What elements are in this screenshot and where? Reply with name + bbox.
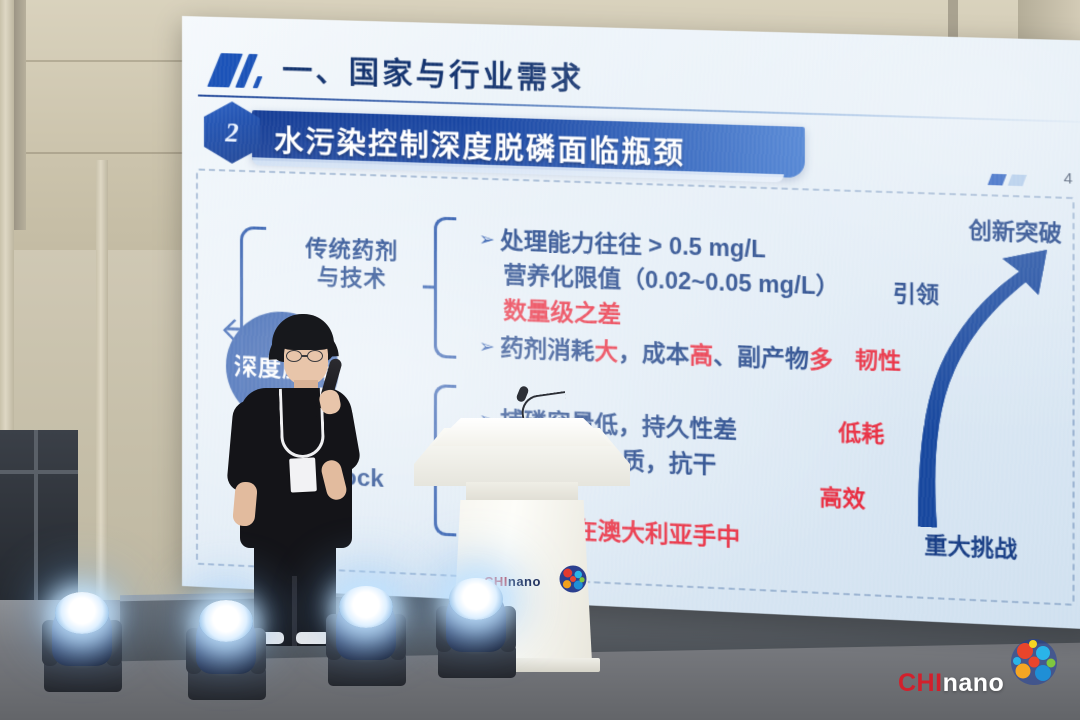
watermark-nano: nano <box>943 669 1005 697</box>
light-lens-icon <box>339 586 393 628</box>
bullet-text-segment: 高 <box>689 341 713 368</box>
light-lens-icon <box>55 592 109 634</box>
branch-label-traditional: 传统药剂 与技术 <box>276 233 428 295</box>
light-lens-icon <box>449 578 503 620</box>
chinano-watermark: CHInano <box>898 634 1066 706</box>
page-marker-icon <box>990 174 1032 188</box>
eyeglasses-icon <box>286 350 328 362</box>
bullet-text-segment: 数量级之差 <box>503 297 621 328</box>
section-number-text: 2 <box>225 117 239 148</box>
bullet-line-3: 数量级之差 <box>503 291 621 330</box>
nano-sphere-icon <box>558 564 588 594</box>
stage-light <box>180 594 272 702</box>
wall-edge <box>14 0 26 230</box>
growth-arrow-group: 创新突破 重大挑战 引领韧性低耗高效 <box>836 216 1063 564</box>
slash-decor-icon <box>214 53 274 89</box>
slide-section-title: 一、国家与行业需求 <box>282 45 584 98</box>
bullet-text-segment: 大 <box>594 338 618 365</box>
bullet-text-segment: 药剂消耗 <box>500 334 594 364</box>
upward-arrow-icon <box>836 216 1063 564</box>
stage-light <box>36 586 128 694</box>
light-lens-icon <box>199 600 253 642</box>
branch-brace-traditional <box>434 217 456 359</box>
bullet-text-segment: 、副产物 <box>713 342 809 372</box>
name-badge <box>289 457 317 492</box>
bullet-marker-icon: ➢ <box>479 336 495 358</box>
page-number: 4 <box>1064 170 1073 188</box>
bullet-text-segment: ，成本 <box>618 339 689 368</box>
wall-pillar <box>96 160 108 600</box>
stage-light <box>430 572 522 680</box>
stage-light <box>320 580 412 688</box>
bullet-text-segment: 处理能力往往 <box>500 227 648 259</box>
bullet-marker-icon: ➢ <box>479 229 495 251</box>
bullet-text-segment: 多 <box>809 346 833 374</box>
nano-sphere-icon <box>1008 636 1060 688</box>
watermark-chi: CHI <box>898 669 943 697</box>
bullet-text-segment: > 0.5 mg/L <box>648 232 765 263</box>
branch-label-line2: 与技术 <box>276 262 428 296</box>
conference-hall-scene: 一、国家与行业需求 2 水污染控制深度脱磷面临瓶颈 4 深度脱磷 传统药剂 与技… <box>0 0 1080 720</box>
